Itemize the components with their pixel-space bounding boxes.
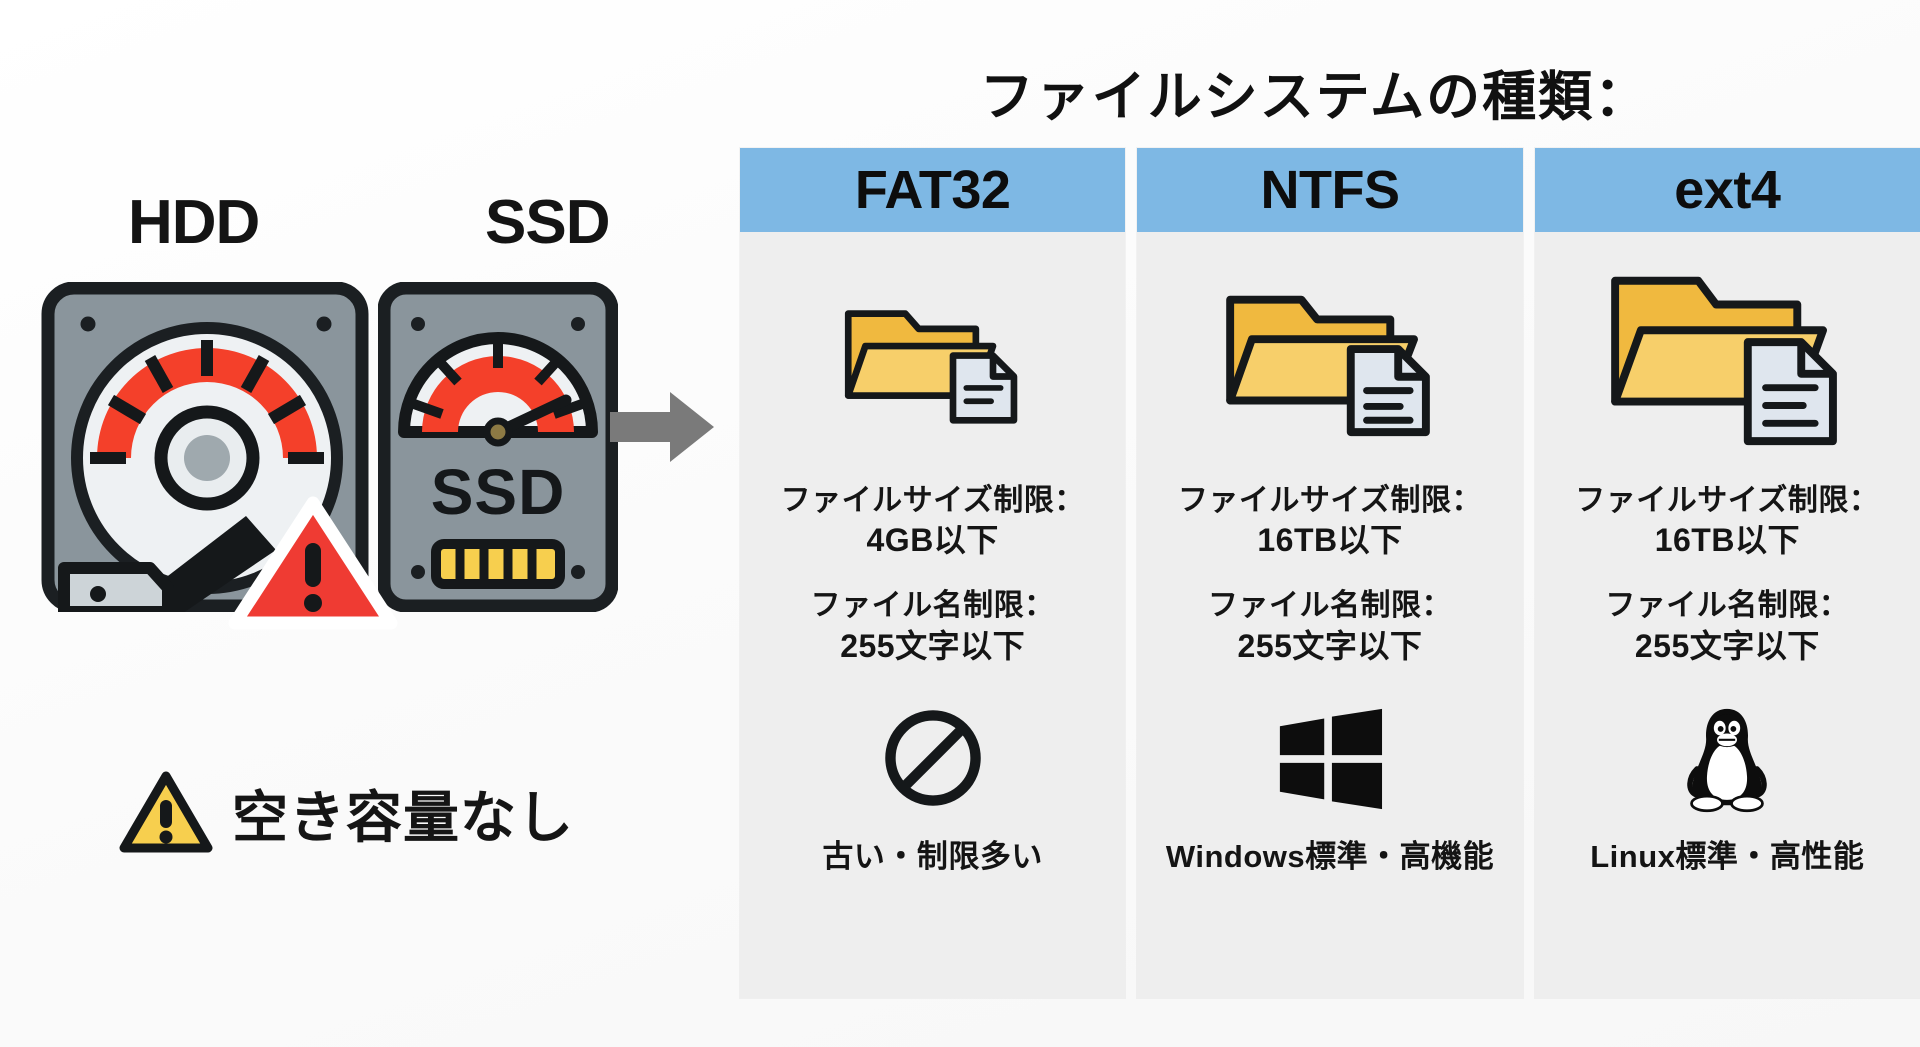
hdd-label: HDD bbox=[128, 192, 259, 254]
file-name-limit-ntfs: ファイル名制限： 255文字以下 bbox=[1137, 587, 1522, 666]
spec-label: ファイル名制限： bbox=[1535, 587, 1920, 625]
spec-label: ファイルサイズ制限： bbox=[740, 482, 1125, 520]
spec-label: ファイルサイズ制限： bbox=[1137, 482, 1522, 520]
column-title: ext4 bbox=[1674, 163, 1780, 217]
large-folder-with-document-icon bbox=[1535, 232, 1920, 480]
column-title: NTFS bbox=[1260, 163, 1399, 217]
solid-state-drive-icon: SSD bbox=[378, 282, 618, 612]
filesystem-comparison-panel: ファイルシステムの種類： FAT32 bbox=[740, 0, 1920, 1047]
infographic-canvas: HDD SSD bbox=[0, 0, 1920, 1047]
column-header-fat32: FAT32 bbox=[740, 148, 1125, 232]
spec-label: ファイル名制限： bbox=[740, 587, 1125, 625]
spec-value: 255文字以下 bbox=[1535, 626, 1920, 667]
spec-label: ファイル名制限： bbox=[1137, 587, 1522, 625]
free-space-warning: 空き容量なし bbox=[118, 770, 574, 856]
file-size-limit-fat32: ファイルサイズ制限： 4GB以下 bbox=[740, 482, 1125, 561]
file-name-limit-fat32: ファイル名制限： 255文字以下 bbox=[740, 587, 1125, 666]
svg-text:SSD: SSD bbox=[431, 456, 566, 528]
file-name-limit-ext4: ファイル名制限： 255文字以下 bbox=[1535, 587, 1920, 666]
filesystem-column-ext4[interactable]: ext4 bbox=[1535, 148, 1920, 998]
prohibition-sign-icon bbox=[740, 693, 1125, 823]
free-space-label: 空き容量なし bbox=[232, 773, 574, 854]
file-size-limit-ntfs: ファイルサイズ制限： 16TB以下 bbox=[1137, 482, 1522, 561]
file-size-limit-ext4: ファイルサイズ制限： 16TB以下 bbox=[1535, 482, 1920, 561]
medium-folder-with-document-icon bbox=[1137, 232, 1522, 480]
spec-value: 16TB以下 bbox=[1535, 520, 1920, 561]
spec-value: 255文字以下 bbox=[740, 626, 1125, 667]
small-folder-with-document-icon bbox=[740, 232, 1125, 480]
storage-overview-panel: HDD SSD bbox=[0, 0, 740, 1047]
column-title: FAT32 bbox=[855, 163, 1011, 217]
spec-value: 16TB以下 bbox=[1137, 520, 1522, 561]
filesystem-columns: FAT32 bbox=[740, 148, 1920, 998]
page-title: ファイルシステムの種類： bbox=[740, 52, 1890, 131]
summary-fat32: 古い・制限多い bbox=[740, 831, 1125, 902]
right-arrow-icon bbox=[608, 390, 716, 464]
spec-value: 255文字以下 bbox=[1137, 626, 1522, 667]
summary-ntfs: Windows標準・高機能 bbox=[1137, 831, 1522, 902]
spec-label: ファイルサイズ制限： bbox=[1535, 482, 1920, 520]
windows-logo-icon bbox=[1137, 693, 1522, 823]
summary-ext4: Linux標準・高性能 bbox=[1535, 831, 1920, 902]
filesystem-column-fat32[interactable]: FAT32 bbox=[740, 148, 1125, 998]
ssd-label: SSD bbox=[485, 192, 609, 254]
linux-penguin-icon bbox=[1535, 693, 1920, 823]
column-header-ext4: ext4 bbox=[1535, 148, 1920, 232]
column-header-ntfs: NTFS bbox=[1137, 148, 1522, 232]
spec-value: 4GB以下 bbox=[740, 520, 1125, 561]
yellow-warning-triangle-icon bbox=[118, 770, 214, 856]
red-warning-triangle-icon bbox=[228, 495, 398, 630]
filesystem-column-ntfs[interactable]: NTFS bbox=[1137, 148, 1522, 998]
